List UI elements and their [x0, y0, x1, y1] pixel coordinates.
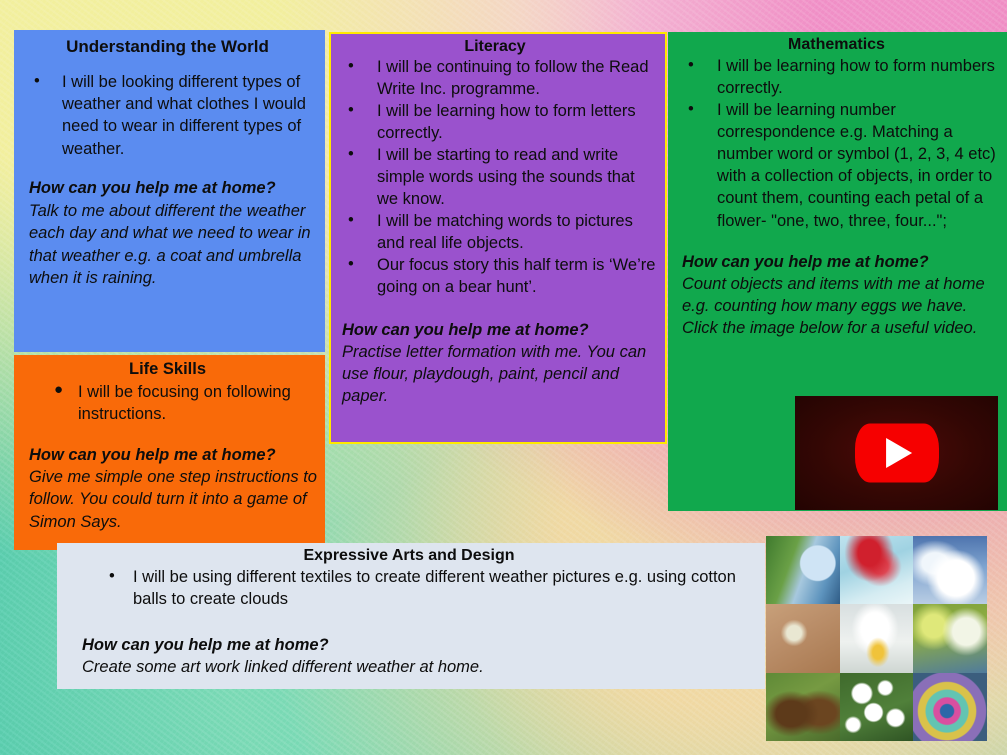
help-question: How can you help me at home? [29, 444, 317, 466]
list-item-text: I will be learning how to form letters c… [377, 102, 636, 142]
collage-cell-pine-cones [766, 673, 840, 741]
list-item-text: I will be learning how to form numbers c… [717, 57, 995, 97]
list-item-text: I will be looking different types of wea… [62, 73, 306, 158]
panel-expressive-arts-and-design: Expressive Arts and Design •I will be us… [57, 543, 765, 689]
bullet-icon: • [348, 254, 354, 276]
help-question: How can you help me at home? [682, 251, 1001, 273]
list-item-text: I will be continuing to follow the Read … [377, 58, 649, 98]
bullet-icon: • [348, 100, 354, 122]
bullet-icon: • [348, 210, 354, 232]
bullet-icon: ● [54, 380, 63, 400]
panel-life-skills: Life Skills ●I will be focusing on follo… [14, 355, 325, 550]
help-answer: Give me simple one step instructions to … [29, 466, 317, 532]
list-item: •I will be learning how to form numbers … [672, 55, 1001, 99]
list-item-text: I will be learning number correspondence… [717, 101, 996, 229]
help-block-understanding-the-world: How can you help me at home? Talk to me … [18, 177, 317, 289]
bullet-list-expressive-arts-and-design: •I will be using different textiles to c… [63, 567, 755, 611]
collage-cell-water-cycle-chalk [766, 604, 840, 672]
help-answer: Count objects and items with me at home … [682, 273, 1001, 339]
panel-title-mathematics: Mathematics [672, 36, 1001, 54]
list-item: •I will be matching words to pictures an… [333, 211, 657, 255]
help-answer: Talk to me about different the weather e… [29, 200, 317, 290]
collage-cell-glass-of-water [766, 536, 840, 604]
list-item: •I will be looking different types of we… [18, 71, 317, 161]
collage-cell-rain-measure-craft [840, 604, 914, 672]
panel-title-life-skills: Life Skills [18, 360, 317, 379]
youtube-video-thumbnail[interactable] [795, 396, 998, 510]
bullet-icon: • [688, 54, 694, 76]
help-answer: Create some art work linked different we… [82, 657, 755, 679]
help-question: How can you help me at home? [342, 320, 657, 342]
bullet-icon: • [348, 56, 354, 78]
list-item: •Our focus story this half term is ‘We’r… [333, 255, 657, 299]
list-item: •I will be learning how to form letters … [333, 101, 657, 145]
list-item-text: I will be starting to read and write sim… [377, 146, 635, 208]
bullet-icon: • [348, 144, 354, 166]
list-item: •I will be starting to read and write si… [333, 145, 657, 211]
bullet-list-mathematics: •I will be learning how to form numbers … [672, 55, 1001, 231]
collage-cell-red-dye-water [840, 536, 914, 604]
bullet-list-understanding-the-world: •I will be looking different types of we… [18, 71, 317, 161]
help-answer: Practise letter formation with me. You c… [342, 342, 657, 408]
bullet-icon: • [688, 98, 694, 120]
list-item: ●I will be focusing on following instruc… [18, 381, 317, 425]
collage-cell-sun-cloud-chalk [913, 604, 987, 672]
help-block-life-skills: How can you help me at home? Give me sim… [18, 444, 317, 532]
list-item-text: I will be matching words to pictures and… [377, 212, 633, 252]
panel-title-literacy: Literacy [333, 38, 657, 56]
help-block-mathematics: How can you help me at home? Count objec… [672, 251, 1001, 339]
help-block-expressive-arts-and-design: How can you help me at home? Create some… [63, 635, 755, 679]
list-item-text: I will be focusing on following instruct… [78, 383, 291, 423]
help-question: How can you help me at home? [82, 635, 755, 657]
collage-cell-rainbow-spiral-chalk [913, 673, 987, 741]
panel-title-expressive-arts-and-design: Expressive Arts and Design [63, 547, 755, 565]
photo-collage [766, 536, 987, 741]
bullet-icon: • [34, 70, 40, 92]
collage-cell-clouds-sky [913, 536, 987, 604]
bullet-list-life-skills: ●I will be focusing on following instruc… [18, 381, 317, 425]
bullet-icon: • [109, 566, 115, 588]
bullet-list-literacy: •I will be continuing to follow the Read… [333, 57, 657, 298]
collage-cell-paint-dots-grass [840, 673, 914, 741]
help-block-literacy: How can you help me at home? Practise le… [333, 320, 657, 408]
panel-literacy: Literacy •I will be continuing to follow… [329, 32, 667, 444]
play-triangle-icon [886, 438, 912, 468]
help-question: How can you help me at home? [29, 177, 317, 199]
list-item: •I will be learning number correspondenc… [672, 99, 1001, 231]
panel-title-understanding-the-world: Understanding the World [18, 37, 317, 57]
panel-understanding-the-world: Understanding the World •I will be looki… [14, 30, 325, 352]
list-item: •I will be continuing to follow the Read… [333, 57, 657, 101]
list-item-text: Our focus story this half term is ‘We’re… [377, 256, 655, 296]
list-item-text: I will be using different textiles to cr… [133, 568, 736, 608]
list-item: •I will be using different textiles to c… [63, 567, 755, 611]
